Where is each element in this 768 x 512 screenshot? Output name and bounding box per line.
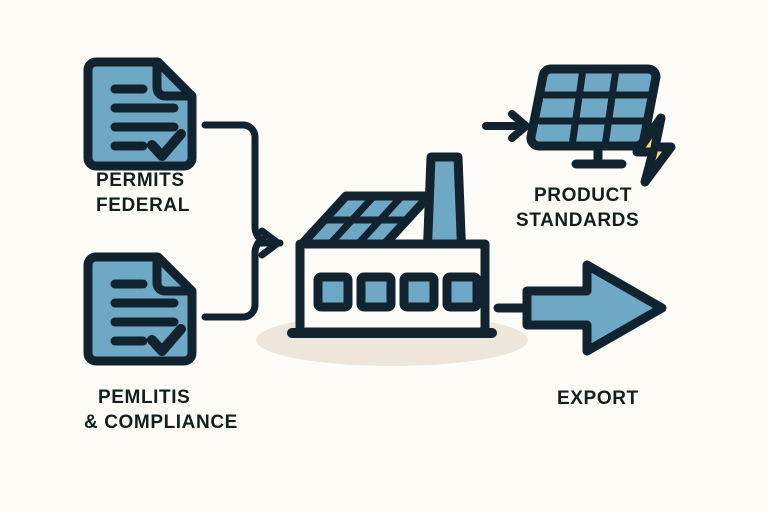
factory-to-standards-connector bbox=[486, 114, 526, 138]
label-permits-federal-line2: FEDERAL bbox=[96, 193, 190, 218]
solar-panel-lightning-icon[interactable] bbox=[531, 69, 671, 182]
diagram-canvas: PERMITS FEDERAL PEMLITIS & COMPLIANCE PR… bbox=[0, 0, 768, 512]
label-export-line1: EXPORT bbox=[557, 386, 639, 411]
label-permits-federal: PERMITS FEDERAL bbox=[96, 168, 190, 218]
label-product-standards-line1: PRODUCT bbox=[516, 183, 639, 208]
label-permits-compliance-line1: PEMLITIS bbox=[84, 385, 238, 410]
factory-window-4 bbox=[447, 277, 477, 307]
factory-with-solar-roof-icon[interactable] bbox=[292, 157, 492, 333]
connector-bottom-branch bbox=[205, 239, 263, 317]
document-checklist-icon-permits-federal[interactable] bbox=[88, 62, 192, 166]
connector-top-branch bbox=[205, 125, 263, 241]
block-arrow-right-icon[interactable] bbox=[527, 265, 662, 351]
label-export: EXPORT bbox=[557, 386, 639, 411]
label-permits-compliance: PEMLITIS & COMPLIANCE bbox=[84, 385, 238, 435]
document-checklist-icon-permits-compliance[interactable] bbox=[88, 257, 192, 361]
diagram-graphics bbox=[0, 0, 768, 512]
export-arrow-shape bbox=[527, 265, 662, 351]
inputs-merge-connector bbox=[205, 125, 280, 317]
solar-panel-board bbox=[531, 69, 656, 146]
factory-window-3 bbox=[404, 277, 434, 307]
factory-window-1 bbox=[318, 277, 348, 307]
label-product-standards-line2: STANDARDS bbox=[516, 208, 639, 233]
label-product-standards: PRODUCT STANDARDS bbox=[516, 183, 639, 233]
label-permits-federal-line1: PERMITS bbox=[96, 168, 190, 193]
factory-window-2 bbox=[361, 277, 391, 307]
label-permits-compliance-line2: & COMPLIANCE bbox=[84, 410, 238, 435]
